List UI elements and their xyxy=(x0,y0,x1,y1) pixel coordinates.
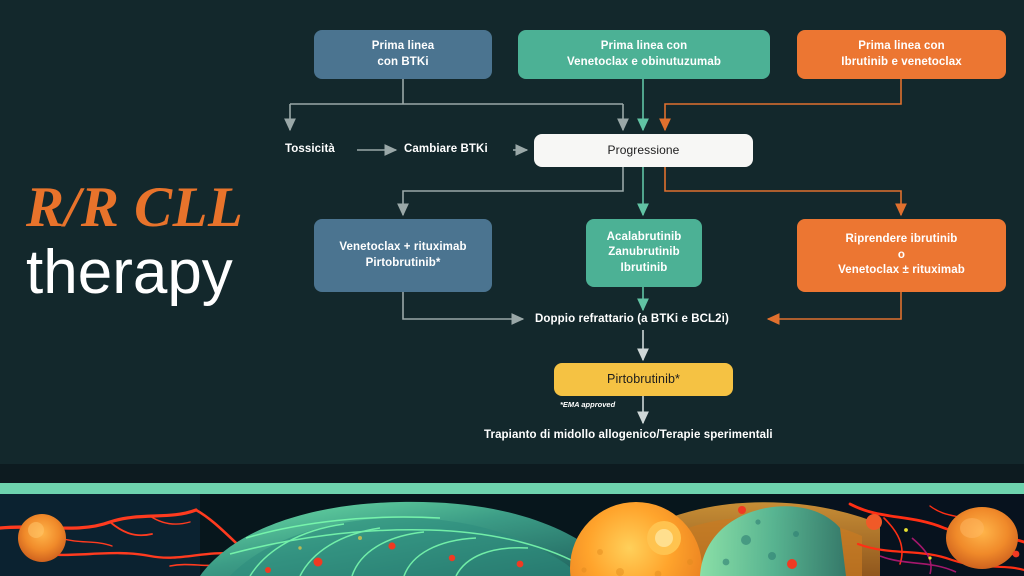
node-label: Prima linea con Venetoclax e obinutuzuma… xyxy=(567,39,721,70)
band-dark-strip xyxy=(0,464,1024,483)
slide-root: R/R CLL therapy xyxy=(0,0,1024,576)
page-title-line-2: therapy xyxy=(26,240,306,307)
label-tossicita: Tossicità xyxy=(285,143,335,155)
node-label: Prima linea con Ibrutinib e venetoclax xyxy=(841,39,961,70)
node-label: Prima linea con BTKi xyxy=(372,39,434,70)
node-label: Riprendere ibrutinib o Venetoclax ± ritu… xyxy=(838,232,965,279)
page-title-line-1: R/R CLL xyxy=(26,178,306,238)
label-trapianto-terapie-sperimentali: Trapianto di midollo allogenico/Terapie … xyxy=(484,429,773,441)
band-teal-accent-bar xyxy=(0,483,1024,494)
footnote-ema-approved: *EMA approved xyxy=(560,400,615,409)
node-riprendere-ibrutinib[interactable]: Riprendere ibrutinib o Venetoclax ± ritu… xyxy=(797,219,1006,292)
node-prima-linea-btki[interactable]: Prima linea con BTKi xyxy=(314,30,492,79)
node-label: Pirtobrutinib* xyxy=(607,371,680,388)
node-prima-linea-ibrutinib-venetoclax[interactable]: Prima linea con Ibrutinib e venetoclax xyxy=(797,30,1006,79)
node-prima-linea-venetoclax-obinutuzumab[interactable]: Prima linea con Venetoclax e obinutuzuma… xyxy=(518,30,770,79)
node-acalabrutinib-zanubrutinib-ibrutinib[interactable]: Acalabrutinib Zanubrutinib Ibrutinib xyxy=(586,219,702,287)
node-progressione[interactable]: Progressione xyxy=(534,134,753,167)
node-label: Progressione xyxy=(608,142,680,158)
node-label: Acalabrutinib Zanubrutinib Ibrutinib xyxy=(607,230,682,277)
decorative-footer-band xyxy=(0,464,1024,576)
band-cell-illustration xyxy=(0,494,1024,576)
node-label: Venetoclax + rituximab Pirtobrutinib* xyxy=(339,240,466,271)
node-pirtobrutinib[interactable]: Pirtobrutinib* xyxy=(554,363,733,396)
label-cambiare-btki: Cambiare BTKi xyxy=(404,143,488,155)
page-title: R/R CLL therapy xyxy=(26,178,306,307)
node-venetoclax-rituximab[interactable]: Venetoclax + rituximab Pirtobrutinib* xyxy=(314,219,492,292)
label-doppio-refrattario: Doppio refrattario (a BTKi e BCL2i) xyxy=(535,313,729,325)
